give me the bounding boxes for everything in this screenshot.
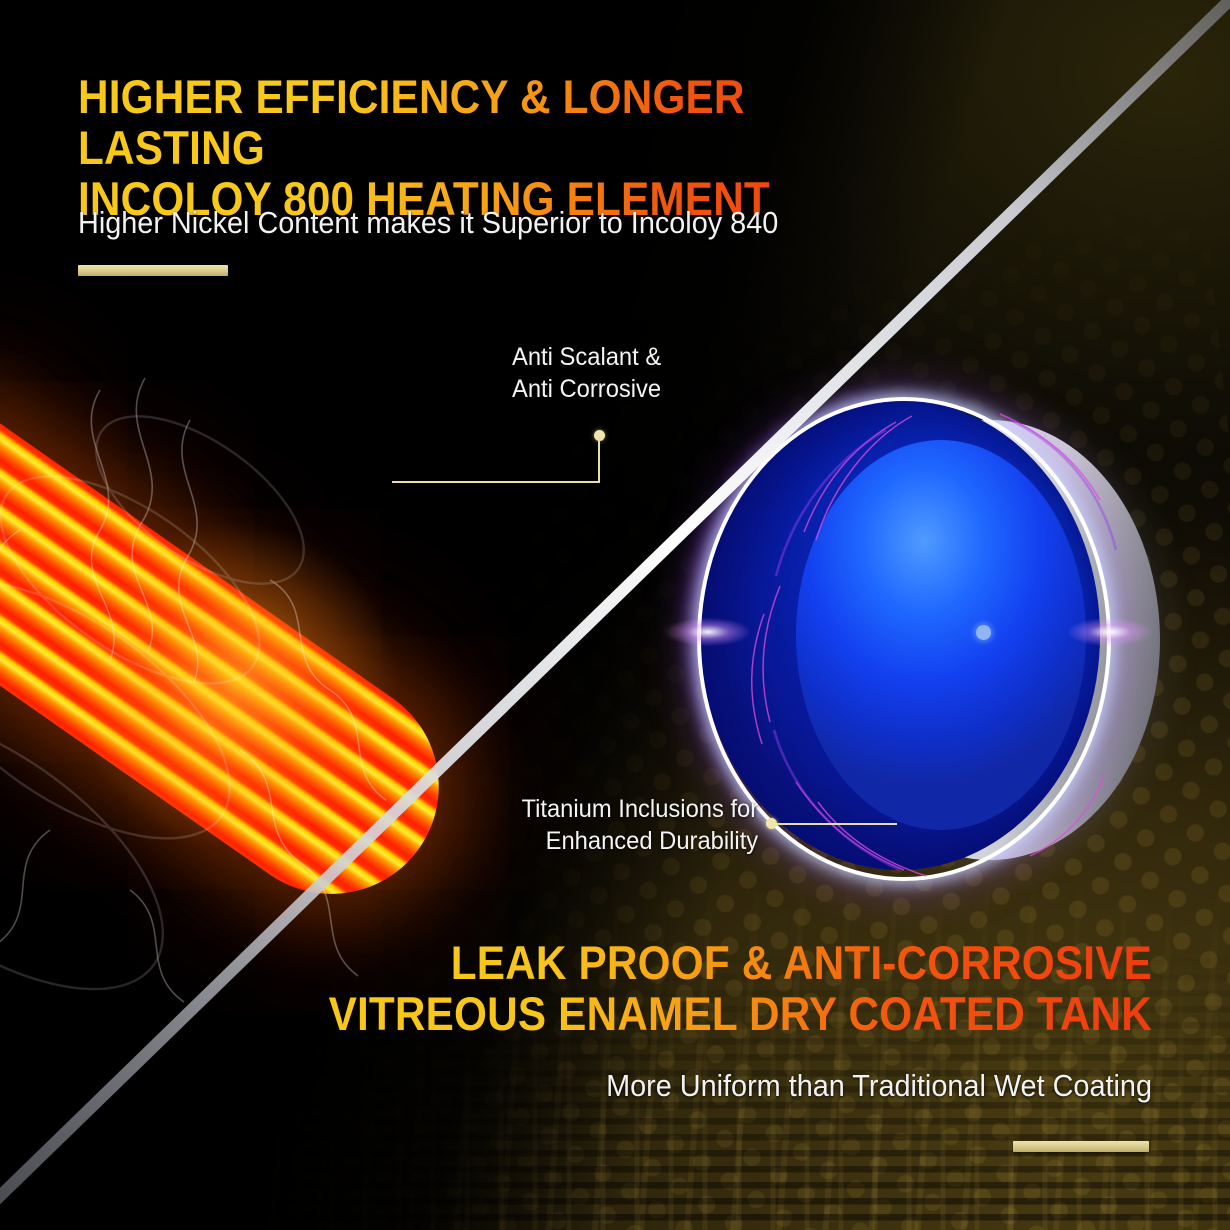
- bottom-divider-bar: [1013, 1141, 1149, 1152]
- top-divider-bar: [78, 265, 228, 276]
- infographic-canvas: HIGHER EFFICIENCY & LONGER LASTING INCOL…: [0, 0, 1230, 1230]
- bottom-headline: LEAK PROOF & ANTI-CORROSIVE VITREOUS ENA…: [306, 938, 1152, 1040]
- bottom-subheadline: More Uniform than Traditional Wet Coatin…: [606, 1068, 1152, 1104]
- callout-anti-scalant: Anti Scalant & Anti Corrosive: [512, 341, 661, 405]
- top-subheadline: Higher Nickel Content makes it Superior …: [78, 205, 778, 241]
- callout-titanium-inclusions: Titanium Inclusions for Enhanced Durabil…: [521, 793, 758, 857]
- top-headline: HIGHER EFFICIENCY & LONGER LASTING INCOL…: [78, 72, 906, 224]
